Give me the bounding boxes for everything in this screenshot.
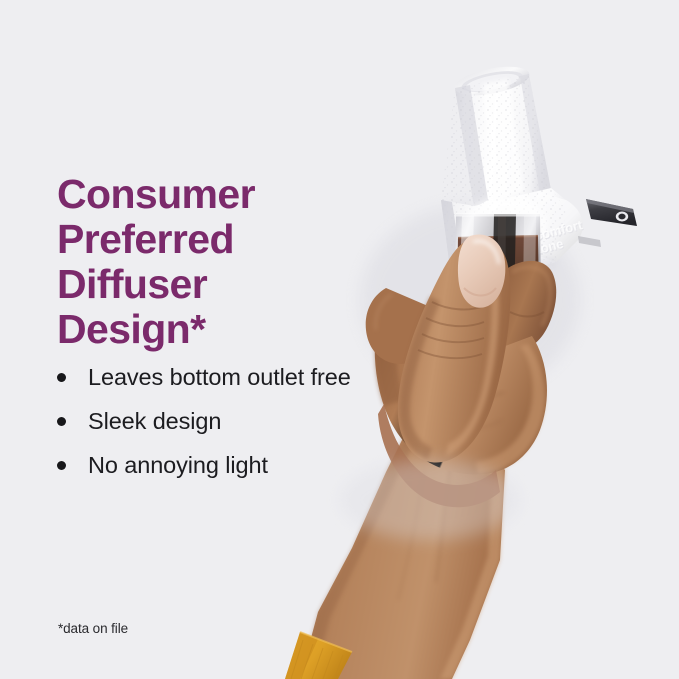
headline-line-3: Diffuser [57, 262, 387, 307]
product-marketing-image: Comfort Zone Comfort Zone [0, 0, 679, 679]
bullet-dot-icon [57, 373, 66, 382]
footnote: *data on file [58, 621, 128, 636]
headline-line-2: Preferred [57, 217, 387, 262]
list-item-label: Leaves bottom outlet free [88, 364, 382, 391]
list-item-label: Sleek design [88, 408, 382, 435]
feature-list: Leaves bottom outlet free Sleek design N… [52, 364, 382, 496]
list-item: No annoying light [52, 452, 382, 479]
headline-line-4: Design* [57, 307, 387, 352]
list-item-label: No annoying light [88, 452, 382, 479]
list-item: Sleek design [52, 408, 382, 435]
bullet-dot-icon [57, 461, 66, 470]
page-title: Consumer Preferred Diffuser Design* [57, 172, 387, 352]
bullet-dot-icon [57, 417, 66, 426]
headline-line-1: Consumer [57, 172, 387, 217]
list-item: Leaves bottom outlet free [52, 364, 382, 391]
